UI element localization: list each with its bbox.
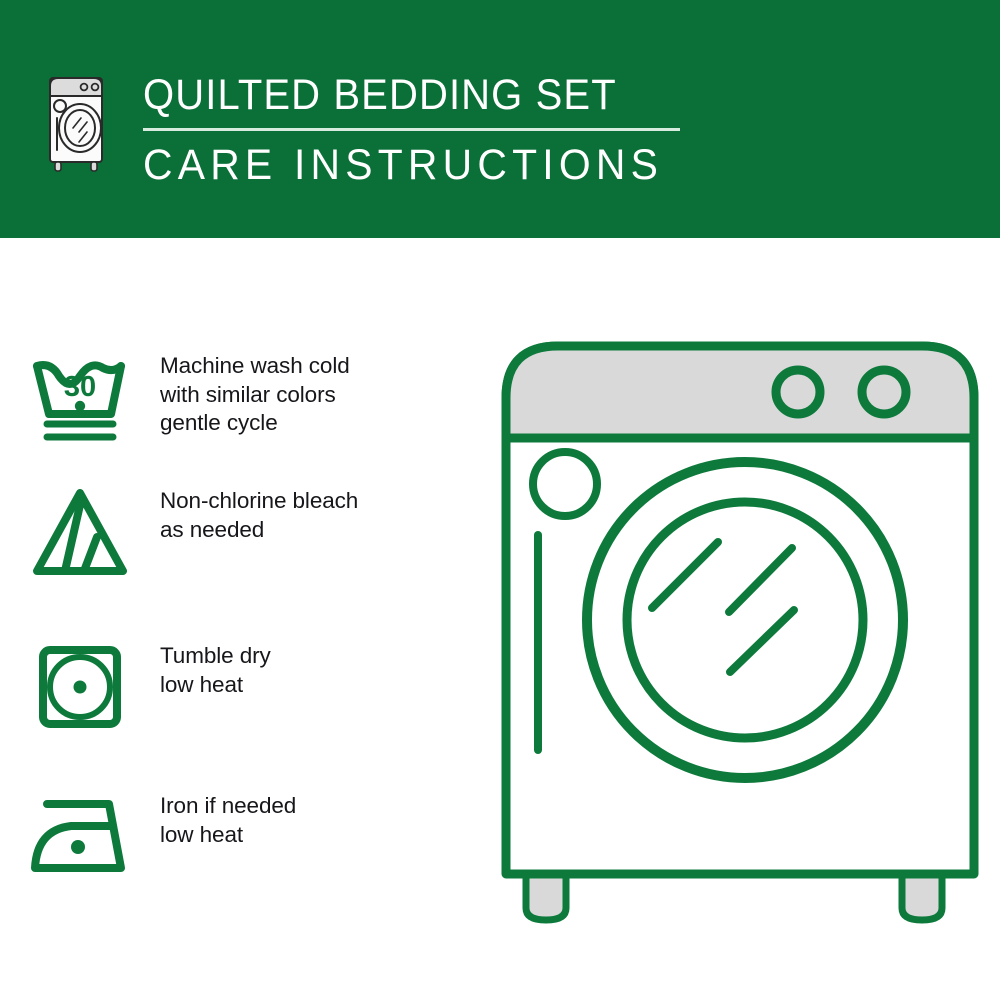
- non-chlorine-bleach-triangle-icon: [0, 483, 160, 583]
- care-row: Iron if needed low heat: [0, 788, 480, 888]
- wash-temperature-label: 30: [64, 371, 96, 403]
- care-row: 30 Machine wash cold with similar colors…: [0, 348, 480, 448]
- care-text: Iron if needed low heat: [160, 788, 296, 849]
- tumble-dry-low-heat-icon: [0, 638, 160, 738]
- care-text: Tumble dry low heat: [160, 638, 271, 699]
- care-text: Machine wash cold with similar colors ge…: [160, 348, 350, 438]
- care-row: Tumble dry low heat: [0, 638, 480, 738]
- page-subtitle: CARE INSTRUCTIONS: [143, 141, 865, 189]
- header-banner: QUILTED BEDDING SET CARE INSTRUCTIONS: [0, 0, 1000, 238]
- header-text-block: QUILTED BEDDING SET CARE INSTRUCTIONS: [143, 72, 903, 189]
- washing-machine-icon: [46, 66, 112, 176]
- title-divider: [143, 128, 680, 131]
- front-load-washing-machine-illustration: [480, 320, 1000, 940]
- care-instructions-list: 30 Machine wash cold with similar colors…: [0, 238, 480, 1000]
- care-text: Non-chlorine bleach as needed: [160, 483, 358, 544]
- care-instructions-page: QUILTED BEDDING SET CARE INSTRUCTIONS 30: [0, 0, 1000, 1000]
- iron-low-heat-icon: [0, 788, 160, 888]
- care-row: Non-chlorine bleach as needed: [0, 483, 480, 583]
- page-title: QUILTED BEDDING SET: [143, 72, 850, 119]
- wash-tub-30-gentle-icon: 30: [0, 348, 160, 448]
